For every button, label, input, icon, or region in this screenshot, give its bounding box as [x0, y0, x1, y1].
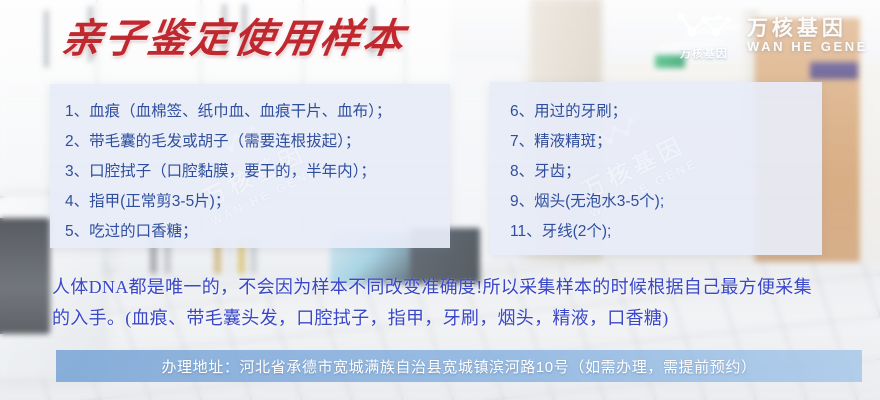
sample-list-panel-left: 万核基因 WAN HE GENE 1、血痕（血棉签、纸巾血、血痕干片、血布）； … — [50, 84, 450, 248]
list-item: 8、牙齿； — [510, 157, 822, 187]
molecule-network-icon — [673, 10, 735, 44]
list-item: 3、口腔拭子（口腔黏膜，要干的，半年内）； — [65, 157, 450, 187]
brand-mark-label: 万核基因 — [680, 45, 728, 61]
description-paragraph: 人体DNA都是唯一的，不会因为样本不同改变准确度!所以采集样本的时候根据自己最方… — [52, 272, 842, 334]
page-title: 亲子鉴定使用样本 — [58, 16, 409, 62]
list-item: 4、指甲(正常剪3-5片)； — [65, 187, 450, 217]
list-item: 6、用过的牙刷； — [510, 97, 822, 127]
brand-mark: 万核基因 — [673, 10, 735, 61]
list-item: 2、带毛囊的毛发或胡子（需要连根拔起）； — [65, 127, 450, 157]
brand-name-en: WAN HE GENE — [747, 40, 868, 54]
sample-list-right: 6、用过的牙刷； 7、精液精斑； 8、牙齿； 9、烟头(无泡水3-5个); 11… — [490, 82, 822, 247]
address-bar: 办理地址：河北省承德市宽城满族自治县宽城镇滨河路10号（如需办理，需提前预约） — [56, 350, 862, 382]
list-item: 7、精液精斑； — [510, 127, 822, 157]
description-line-1: 人体DNA都是唯一的，不会因为样本不同改变准确度!所以采集样本的时候根据自己最方… — [52, 272, 842, 303]
poster-canvas: 亲子鉴定使用样本 — [0, 0, 880, 400]
list-item: 9、烟头(无泡水3-5个); — [510, 187, 822, 217]
sample-list-panel-right: 万核基因 WAN HE GENE 6、用过的牙刷； 7、精液精斑； 8、牙齿； … — [490, 82, 822, 255]
brand-text: 万核基因 WAN HE GENE — [747, 17, 868, 54]
address-text: 办理地址：河北省承德市宽城满族自治县宽城镇滨河路10号（如需办理，需提前预约） — [161, 356, 756, 377]
description-line-2: 的入手。(血痕、带毛囊头发，口腔拭子，指甲，牙刷，烟头，精液，口香糖) — [52, 303, 842, 334]
list-item: 1、血痕（血棉签、纸巾血、血痕干片、血布）； — [65, 97, 450, 127]
sample-list-left: 1、血痕（血棉签、纸巾血、血痕干片、血布）； 2、带毛囊的毛发或胡子（需要连根拔… — [50, 84, 450, 247]
list-item: 11、牙线(2个); — [510, 217, 822, 247]
brand-logo: 万核基因 万核基因 WAN HE GENE — [673, 10, 868, 61]
list-item: 5、吃过的口香糖； — [65, 217, 450, 247]
brand-name-cn: 万核基因 — [747, 17, 868, 40]
